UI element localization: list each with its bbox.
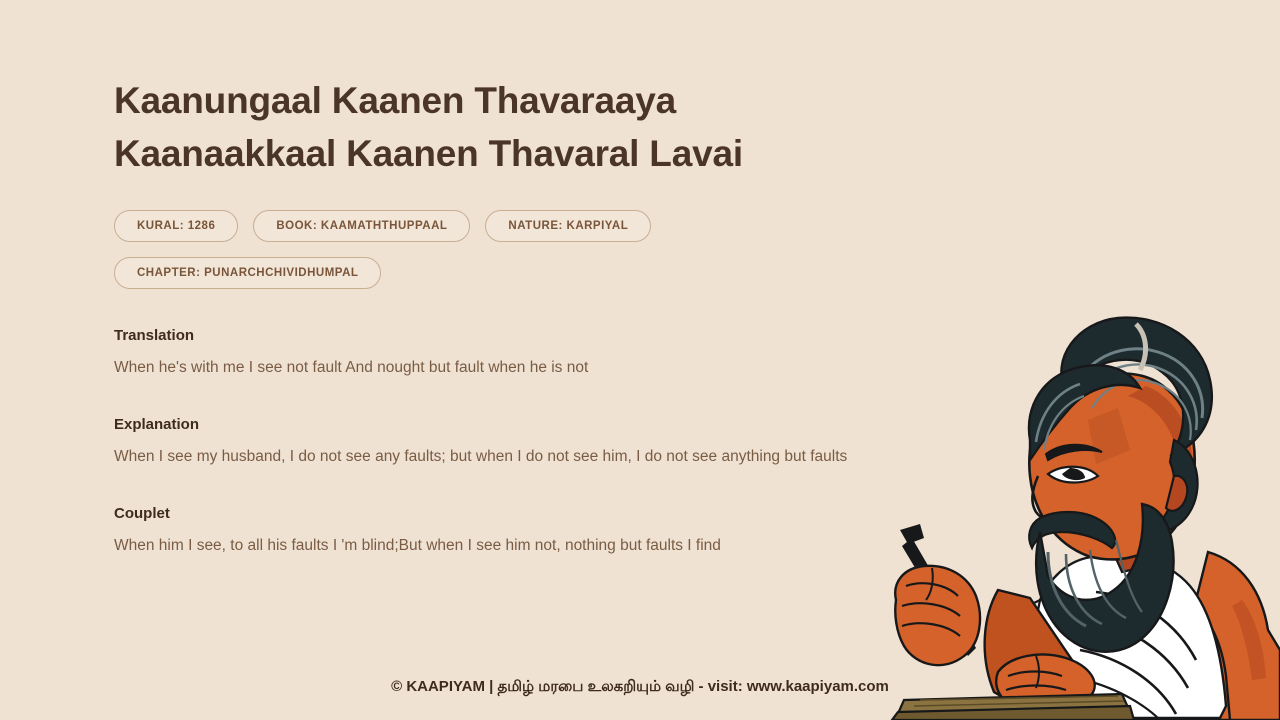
footer-credit: © KAAPIYAM | தமிழ் மரபை உலகறியும் வழி - …: [0, 678, 1280, 697]
kural-card-page: Kaanungaal Kaanen Thavaraaya Kaanaakkaal…: [0, 0, 1280, 720]
metadata-chip-row: KURAL: 1286 BOOK: KAAMATHTHUPPAAL NATURE…: [114, 210, 914, 289]
dhoti-fold: [1014, 600, 1044, 718]
eyebrow: [1046, 445, 1102, 460]
hair-fringe: [1029, 365, 1140, 460]
beard: [1036, 504, 1173, 652]
section-explanation: Explanation When I see my husband, I do …: [114, 415, 914, 467]
explanation-heading: Explanation: [114, 415, 914, 435]
explanation-text: When I see my husband, I do not see any …: [114, 447, 914, 467]
face: [1029, 374, 1194, 560]
thiruvalluvar-illustration: [890, 300, 1280, 720]
kural-content: Kaanungaal Kaanen Thavaraaya Kaanaakkaal…: [114, 74, 914, 556]
torso: [1010, 591, 1230, 720]
left-forearm: [985, 590, 1096, 720]
nose: [1032, 476, 1058, 520]
ear: [1166, 476, 1187, 511]
palm-leaf-manuscript: [892, 694, 1134, 720]
eye: [1048, 467, 1098, 483]
neck: [1106, 514, 1166, 572]
chip-book[interactable]: BOOK: KAAMATHTHUPPAAL: [253, 210, 470, 242]
section-couplet: Couplet When him I see, to all his fault…: [114, 504, 914, 556]
hair-bun: [1061, 318, 1211, 454]
chip-kural-number[interactable]: KURAL: 1286: [114, 210, 238, 242]
translation-text: When he's with me I see not fault And no…: [114, 358, 914, 378]
page-title: Kaanungaal Kaanen Thavaraaya Kaanaakkaal…: [114, 74, 904, 180]
hair-side: [1150, 440, 1198, 532]
left-hand: [895, 566, 980, 665]
couplet-heading: Couplet: [114, 504, 914, 524]
chip-nature[interactable]: NATURE: KARPIYAL: [485, 210, 651, 242]
section-translation: Translation When he's with me I see not …: [114, 326, 914, 378]
couplet-text: When him I see, to all his faults I 'm b…: [114, 536, 914, 556]
translation-heading: Translation: [114, 326, 914, 346]
chip-chapter[interactable]: CHAPTER: PUNARCHCHIVIDHUMPAL: [114, 257, 381, 289]
moustache: [1029, 512, 1115, 548]
